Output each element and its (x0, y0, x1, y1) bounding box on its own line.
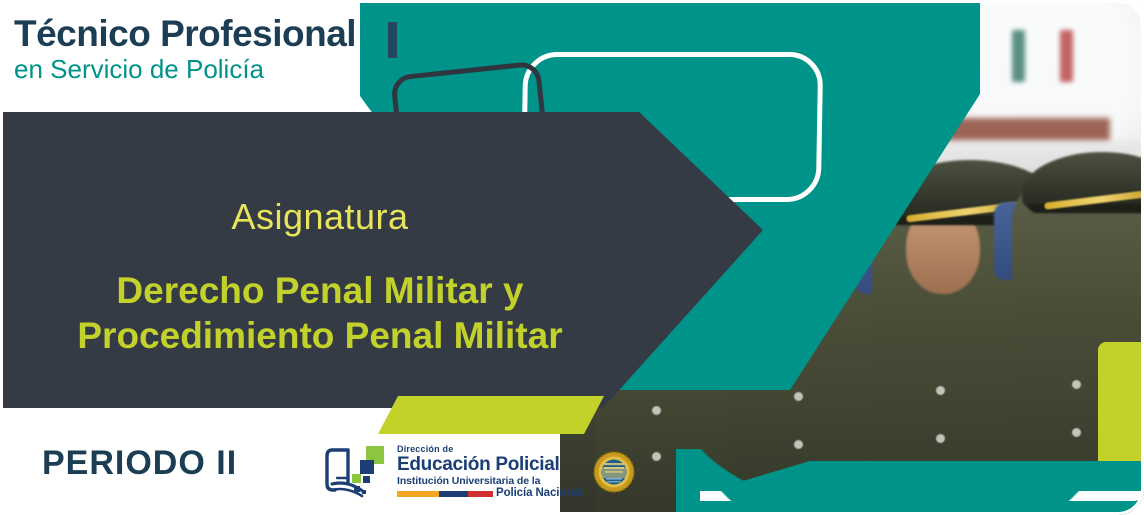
open-book-logo-icon (318, 444, 390, 500)
logo-text-block: Dirección de Educación Policial Instituc… (397, 445, 583, 500)
institution-logo: Dirección de Educación Policial Instituc… (318, 444, 636, 500)
period-label: PERIODO II (42, 444, 237, 483)
lime-vertical-strip (1098, 342, 1144, 478)
lime-parallelogram-accent (378, 396, 604, 434)
colombia-flag-bar-icon (397, 491, 493, 497)
accreditation-seal-icon (592, 449, 636, 495)
subject-title-line-1: Derecho Penal Militar y (0, 268, 640, 313)
logo-line-4: Policía Nacional (496, 488, 583, 500)
logo-line-2: Educación Policial (397, 455, 583, 474)
course-banner: Técnico Profesional en Servicio de Polic… (0, 0, 1144, 515)
logo-line-3: Institución Universitaria de la (397, 476, 583, 487)
teal-bottom-curve (676, 449, 896, 515)
subject-title-line-2: Procedimiento Penal Militar (0, 313, 640, 358)
logo-line-1: Dirección de (397, 445, 583, 454)
program-title: Técnico Profesional (14, 14, 414, 53)
white-separator-curve (700, 491, 1144, 501)
subject-title: Derecho Penal Militar y Procedimiento Pe… (0, 268, 640, 358)
subject-label: Asignatura (0, 196, 640, 238)
program-subtitle: en Servicio de Policía (14, 54, 414, 85)
program-header: Técnico Profesional en Servicio de Polic… (14, 14, 414, 85)
logo-line-4-row: Policía Nacional (397, 488, 583, 500)
